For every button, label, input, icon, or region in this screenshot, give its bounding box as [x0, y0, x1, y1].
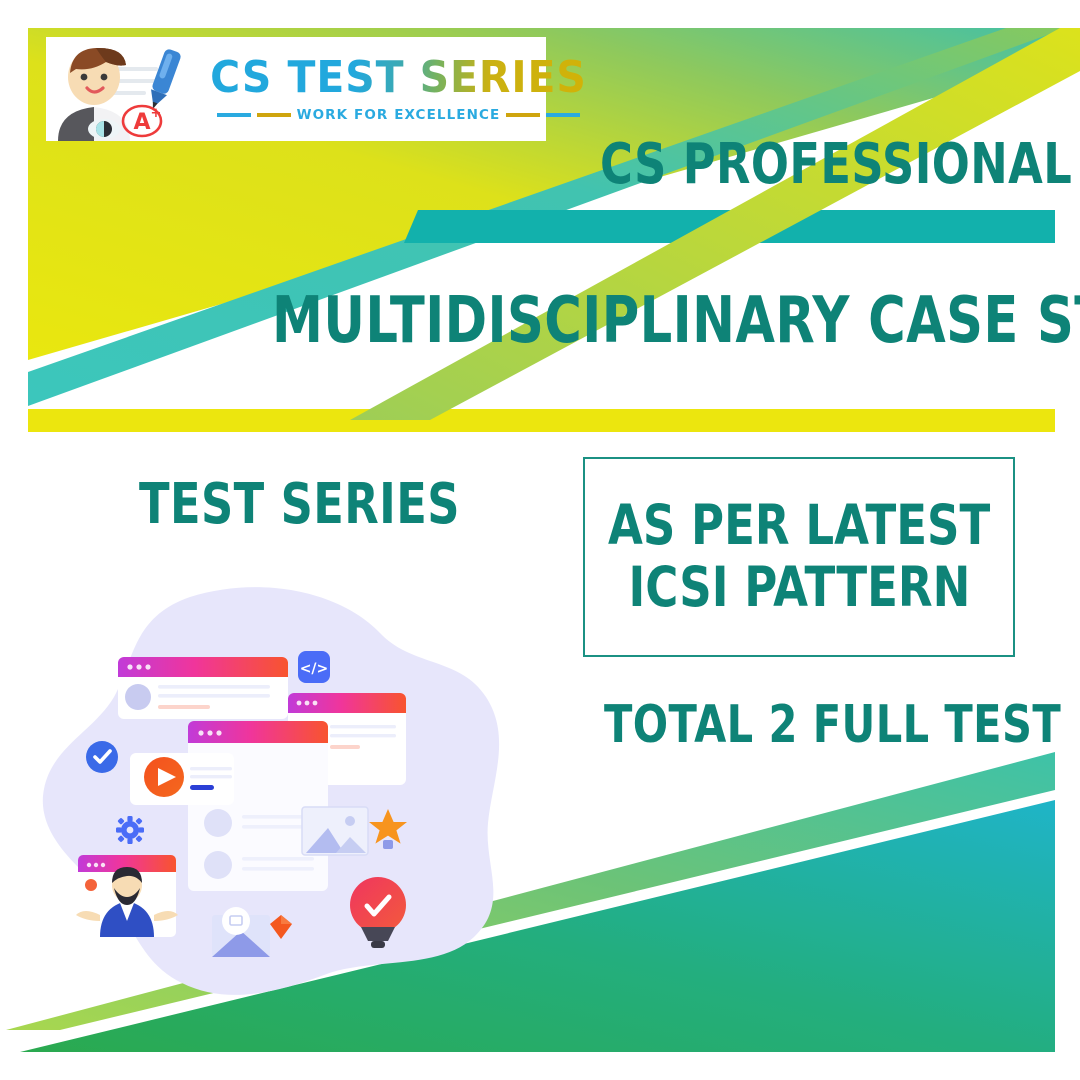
yellow-bar	[28, 409, 1055, 432]
course-title-heading: MULTIDISCIPLINARY CASE STUDIES	[272, 289, 1080, 353]
tagline-dash-left-gold	[257, 113, 291, 117]
svg-text:</>: </>	[300, 661, 329, 677]
teal-bar	[404, 210, 1055, 243]
logo-text-block: CS TEST SERIES WORK FOR EXCELLENCE	[196, 37, 607, 141]
logo-title: CS TEST SERIES	[210, 56, 587, 100]
code-icon: </>	[298, 651, 330, 683]
tagline-dash-right-gold	[506, 113, 540, 117]
video-card	[130, 753, 234, 805]
tagline-dash-right-cyan	[546, 113, 580, 117]
presenter-card	[76, 855, 178, 937]
pattern-line-1: AS PER LATEST	[608, 495, 990, 557]
product-heading: TEST SERIES	[139, 477, 460, 533]
total-tests-label: TOTAL 2 FULL TEST	[604, 699, 1061, 751]
content-card-center	[188, 721, 328, 891]
check-badge-icon	[86, 741, 118, 773]
pattern-line-2: ICSI PATTERN	[628, 557, 970, 619]
logo-tagline: WORK FOR EXCELLENCE	[297, 107, 501, 123]
student-avatar-icon: A +	[46, 37, 196, 141]
logo-tagline-row: WORK FOR EXCELLENCE	[196, 107, 601, 123]
svg-text:A: A	[133, 110, 150, 135]
svg-text:+: +	[151, 106, 162, 121]
brand-logo[interactable]: A + CS TEST SERIES WORK FOR EXCELLENCE	[46, 37, 546, 141]
image-placeholder-icon	[302, 807, 368, 855]
content-card-1	[118, 657, 288, 719]
promo-poster: A + CS TEST SERIES WORK FOR EXCELLENCE C…	[0, 0, 1080, 1080]
course-level-heading: CS PROFESSIONAL	[600, 137, 1072, 193]
tagline-dash-left-cyan	[217, 113, 251, 117]
logo-illustration: A +	[46, 37, 196, 141]
web-content-illustration: </>	[40, 585, 510, 1005]
gear-icon	[116, 816, 144, 844]
pattern-badge: AS PER LATEST ICSI PATTERN	[583, 457, 1015, 657]
